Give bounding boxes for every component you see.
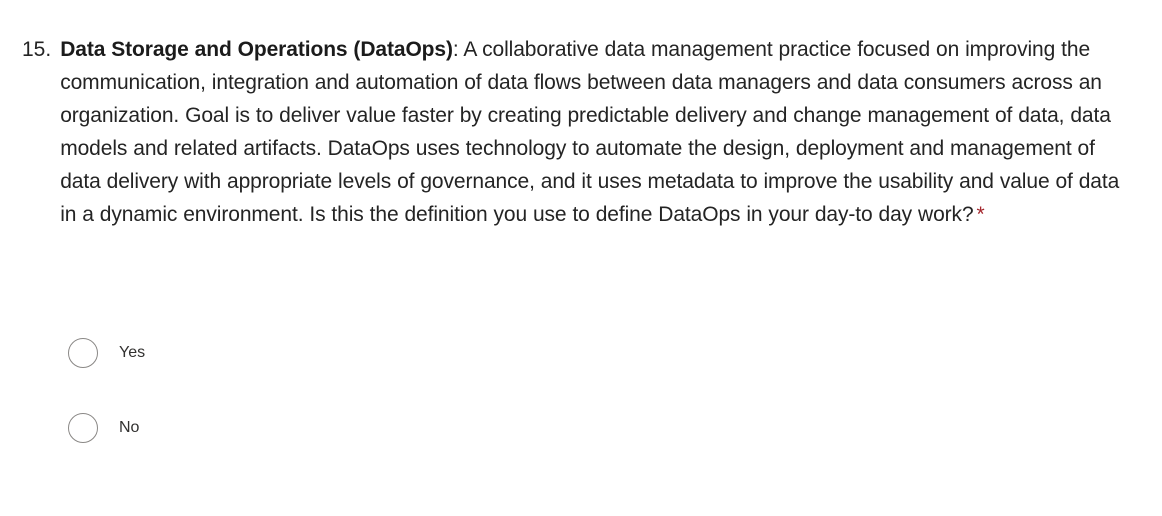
question-title: Data Storage and Operations (DataOps): A… — [60, 33, 1132, 231]
choice-label-no: No — [98, 418, 139, 438]
question-body: : A collaborative data management practi… — [60, 38, 1119, 226]
choice-group: Yes No — [68, 335, 668, 485]
radio-button-no[interactable] — [68, 413, 98, 443]
choice-option-no[interactable]: No — [68, 410, 668, 446]
question-number: 15. — [22, 33, 60, 66]
radio-button-yes[interactable] — [68, 338, 98, 368]
question-term: Data Storage and Operations (DataOps) — [60, 38, 453, 61]
choice-label-yes: Yes — [98, 343, 145, 363]
required-asterisk-icon: * — [974, 203, 985, 226]
question-row: 15. Data Storage and Operations (DataOps… — [22, 33, 1132, 231]
choice-option-yes[interactable]: Yes — [68, 335, 668, 371]
